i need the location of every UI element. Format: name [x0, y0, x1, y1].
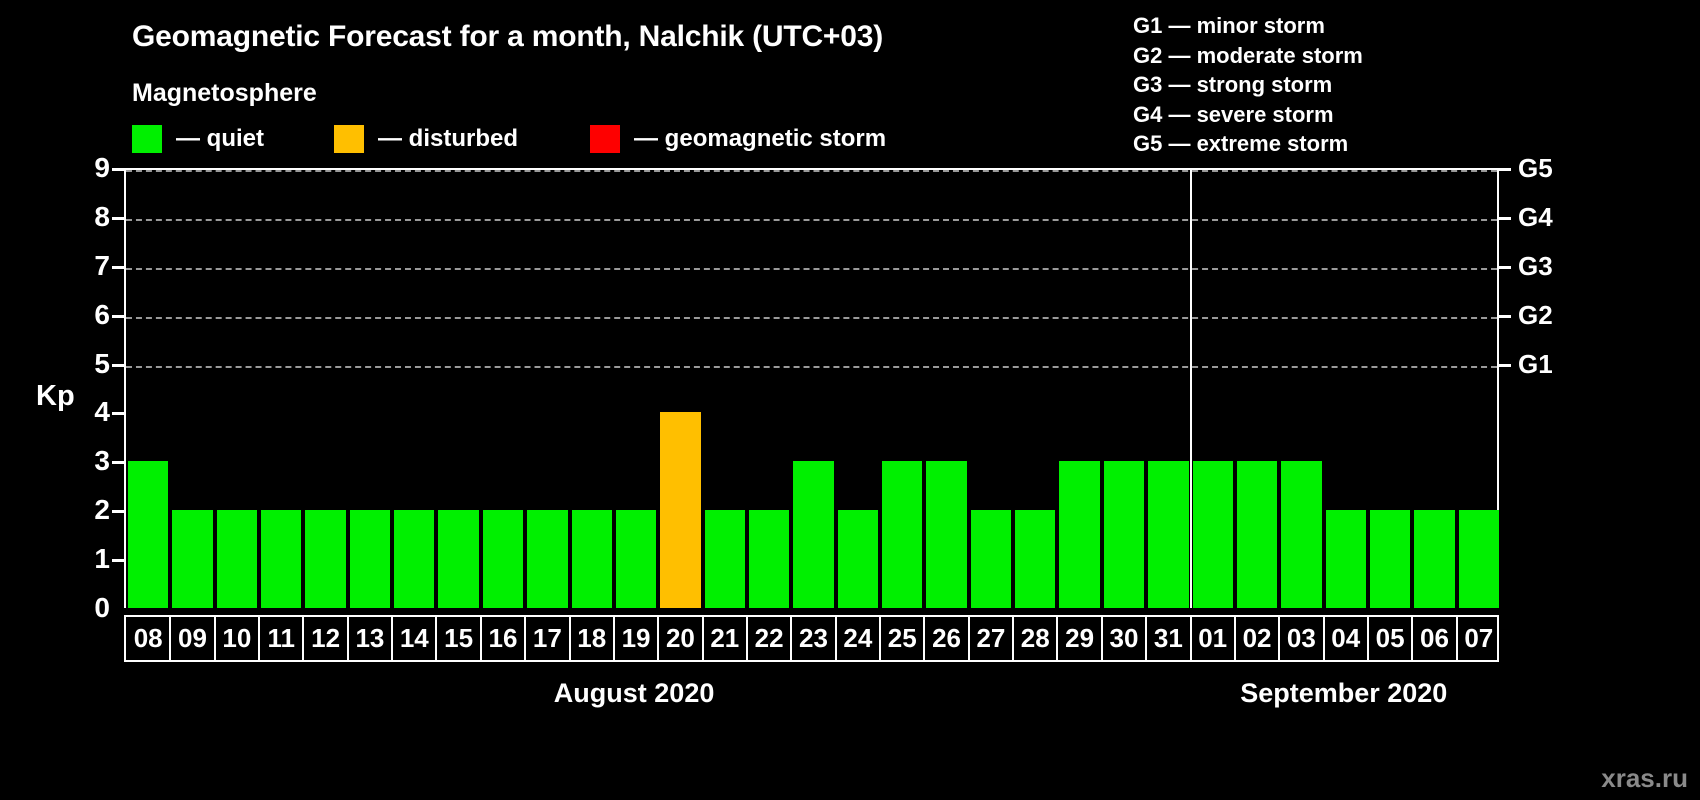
- day-separator: [1145, 617, 1147, 660]
- day-separator: [1056, 617, 1058, 660]
- gscale-key: G1 — minor storm G2 — moderate storm G3 …: [1133, 11, 1363, 159]
- day-label-18[interactable]: 18: [570, 617, 614, 660]
- g-axis-tick-g4: G4: [1518, 204, 1553, 230]
- bar-day-01[interactable]: [1193, 461, 1233, 608]
- day-label-19[interactable]: 19: [614, 617, 658, 660]
- legend-label-quiet: — quiet: [176, 125, 264, 153]
- y-axis-tick-4: 4: [78, 398, 110, 426]
- day-label-29[interactable]: 29: [1057, 617, 1101, 660]
- g-axis-tick-g1: G1: [1518, 351, 1553, 377]
- y-axis-tick-8: 8: [78, 203, 110, 231]
- bar-day-07[interactable]: [1459, 510, 1499, 608]
- y-axis-tick-0: 0: [78, 594, 110, 622]
- bar-day-25[interactable]: [882, 461, 922, 608]
- legend-heading: Magnetosphere: [132, 79, 317, 108]
- y-axis-tick-9: 9: [78, 154, 110, 182]
- day-separator: [302, 617, 304, 660]
- day-separator: [1101, 617, 1103, 660]
- gscale-key-line-g3: G3 — strong storm: [1133, 70, 1363, 100]
- day-separator: [391, 617, 393, 660]
- day-label-27[interactable]: 27: [969, 617, 1013, 660]
- bar-day-13[interactable]: [350, 510, 390, 608]
- day-label-11[interactable]: 11: [259, 617, 303, 660]
- bar-day-04[interactable]: [1326, 510, 1366, 608]
- day-separator: [1234, 617, 1236, 660]
- bar-day-08[interactable]: [128, 461, 168, 608]
- bar-day-23[interactable]: [793, 461, 833, 608]
- legend-item-disturbed: — disturbed: [334, 125, 518, 153]
- g-axis-tickmark-g2: [1499, 315, 1511, 318]
- day-label-26[interactable]: 26: [924, 617, 968, 660]
- bar-day-28[interactable]: [1015, 510, 1055, 608]
- day-label-12[interactable]: 12: [303, 617, 347, 660]
- watermark: xras.ru: [1601, 763, 1688, 794]
- y-axis-tickmark-1: [112, 559, 124, 562]
- g-axis-tickmark-g4: [1499, 217, 1511, 220]
- day-separator: [613, 617, 615, 660]
- bar-day-06[interactable]: [1414, 510, 1454, 608]
- day-separator: [435, 617, 437, 660]
- day-separator: [1278, 617, 1280, 660]
- y-axis-tickmark-6: [112, 315, 124, 318]
- day-separator: [968, 617, 970, 660]
- bar-day-11[interactable]: [261, 510, 301, 608]
- y-axis-tick-1: 1: [78, 545, 110, 573]
- day-label-14[interactable]: 14: [392, 617, 436, 660]
- bar-day-19[interactable]: [616, 510, 656, 608]
- day-separator: [879, 617, 881, 660]
- y-axis-tickmark-5: [112, 364, 124, 367]
- g-axis-tickmark-g3: [1499, 266, 1511, 269]
- g-axis-tickmark-g1: [1499, 364, 1511, 367]
- bar-day-09[interactable]: [172, 510, 212, 608]
- day-label-21[interactable]: 21: [703, 617, 747, 660]
- day-separator: [347, 617, 349, 660]
- day-label-10[interactable]: 10: [215, 617, 259, 660]
- y-axis-tick-7: 7: [78, 252, 110, 280]
- day-separator: [1367, 617, 1369, 660]
- day-separator: [1323, 617, 1325, 660]
- bars-layer: [126, 170, 1497, 608]
- page-title: Geomagnetic Forecast for a month, Nalchi…: [132, 20, 883, 54]
- y-axis-tickmark-8: [112, 217, 124, 220]
- day-label-02[interactable]: 02: [1235, 617, 1279, 660]
- day-label-07[interactable]: 07: [1457, 617, 1501, 660]
- day-label-15[interactable]: 15: [436, 617, 480, 660]
- day-label-04[interactable]: 04: [1324, 617, 1368, 660]
- day-separator: [790, 617, 792, 660]
- gscale-key-line-g1: G1 — minor storm: [1133, 11, 1363, 41]
- day-label-16[interactable]: 16: [481, 617, 525, 660]
- bar-day-12[interactable]: [305, 510, 345, 608]
- day-label-08[interactable]: 08: [126, 617, 170, 660]
- day-separator: [657, 617, 659, 660]
- bar-day-22[interactable]: [749, 510, 789, 608]
- bar-day-31[interactable]: [1148, 461, 1188, 608]
- day-label-24[interactable]: 24: [836, 617, 880, 660]
- bar-day-20[interactable]: [660, 412, 700, 608]
- day-separator: [702, 617, 704, 660]
- g-axis-tickmark-g5: [1499, 168, 1511, 171]
- y-axis-tickmark-7: [112, 266, 124, 269]
- month-caption-september: September 2020: [1240, 678, 1447, 709]
- bar-day-02[interactable]: [1237, 461, 1277, 608]
- day-separator: [480, 617, 482, 660]
- day-label-25[interactable]: 25: [880, 617, 924, 660]
- gscale-key-line-g2: G2 — moderate storm: [1133, 41, 1363, 71]
- bar-day-14[interactable]: [394, 510, 434, 608]
- month-divider-line: [1190, 170, 1192, 608]
- day-label-strip: 0809101112131415161718192021222324252627…: [124, 615, 1499, 662]
- bar-day-03[interactable]: [1281, 461, 1321, 608]
- g-axis-tick-g3: G3: [1518, 253, 1553, 279]
- day-label-05[interactable]: 05: [1368, 617, 1412, 660]
- legend-swatch-quiet: [132, 125, 162, 153]
- day-separator: [214, 617, 216, 660]
- legend-item-quiet: — quiet: [132, 125, 264, 153]
- bar-day-18[interactable]: [572, 510, 612, 608]
- bar-day-21[interactable]: [705, 510, 745, 608]
- legend: — quiet — disturbed — geomagnetic storm: [132, 124, 886, 154]
- day-label-09[interactable]: 09: [170, 617, 214, 660]
- y-axis-tickmark-2: [112, 510, 124, 513]
- bar-day-05[interactable]: [1370, 510, 1410, 608]
- y-axis-tick-2: 2: [78, 496, 110, 524]
- day-separator: [258, 617, 260, 660]
- day-separator: [923, 617, 925, 660]
- y-axis-tick-6: 6: [78, 301, 110, 329]
- day-separator: [1012, 617, 1014, 660]
- y-axis-tickmark-4: [112, 412, 124, 415]
- day-label-20[interactable]: 20: [658, 617, 702, 660]
- day-label-30[interactable]: 30: [1102, 617, 1146, 660]
- y-axis-title: Kp: [36, 380, 75, 413]
- day-label-13[interactable]: 13: [348, 617, 392, 660]
- day-separator: [169, 617, 171, 660]
- day-label-01[interactable]: 01: [1191, 617, 1235, 660]
- g-axis-tick-g5: G5: [1518, 155, 1553, 181]
- day-label-31[interactable]: 31: [1146, 617, 1190, 660]
- day-separator: [1411, 617, 1413, 660]
- y-axis-tick-3: 3: [78, 447, 110, 475]
- legend-label-disturbed: — disturbed: [378, 125, 518, 153]
- y-axis-tickmark-9: [112, 168, 124, 171]
- y-axis-tick-5: 5: [78, 350, 110, 378]
- plot-area: [124, 168, 1499, 608]
- day-separator: [569, 617, 571, 660]
- gscale-key-line-g5: G5 — extreme storm: [1133, 129, 1363, 159]
- day-label-23[interactable]: 23: [791, 617, 835, 660]
- legend-swatch-storm: [590, 125, 620, 153]
- day-separator: [1190, 617, 1192, 660]
- day-separator: [835, 617, 837, 660]
- day-separator: [524, 617, 526, 660]
- day-label-28[interactable]: 28: [1013, 617, 1057, 660]
- plot-inner: [126, 170, 1497, 608]
- day-label-17[interactable]: 17: [525, 617, 569, 660]
- day-label-03[interactable]: 03: [1279, 617, 1323, 660]
- bar-day-10[interactable]: [217, 510, 257, 608]
- legend-swatch-disturbed: [334, 125, 364, 153]
- legend-label-storm: — geomagnetic storm: [634, 125, 886, 153]
- bar-day-29[interactable]: [1059, 461, 1099, 608]
- gscale-key-line-g4: G4 — severe storm: [1133, 100, 1363, 130]
- legend-item-storm: — geomagnetic storm: [590, 125, 886, 153]
- day-label-06[interactable]: 06: [1412, 617, 1456, 660]
- g-axis-tick-g2: G2: [1518, 302, 1553, 328]
- bar-day-16[interactable]: [483, 510, 523, 608]
- bar-day-30[interactable]: [1104, 461, 1144, 608]
- day-separator: [1456, 617, 1458, 660]
- day-label-22[interactable]: 22: [747, 617, 791, 660]
- y-axis-tickmark-3: [112, 461, 124, 464]
- bar-day-27[interactable]: [971, 510, 1011, 608]
- bar-day-24[interactable]: [838, 510, 878, 608]
- bar-day-26[interactable]: [926, 461, 966, 608]
- month-caption-august: August 2020: [554, 678, 715, 709]
- bar-day-17[interactable]: [527, 510, 567, 608]
- day-separator: [746, 617, 748, 660]
- bar-day-15[interactable]: [438, 510, 478, 608]
